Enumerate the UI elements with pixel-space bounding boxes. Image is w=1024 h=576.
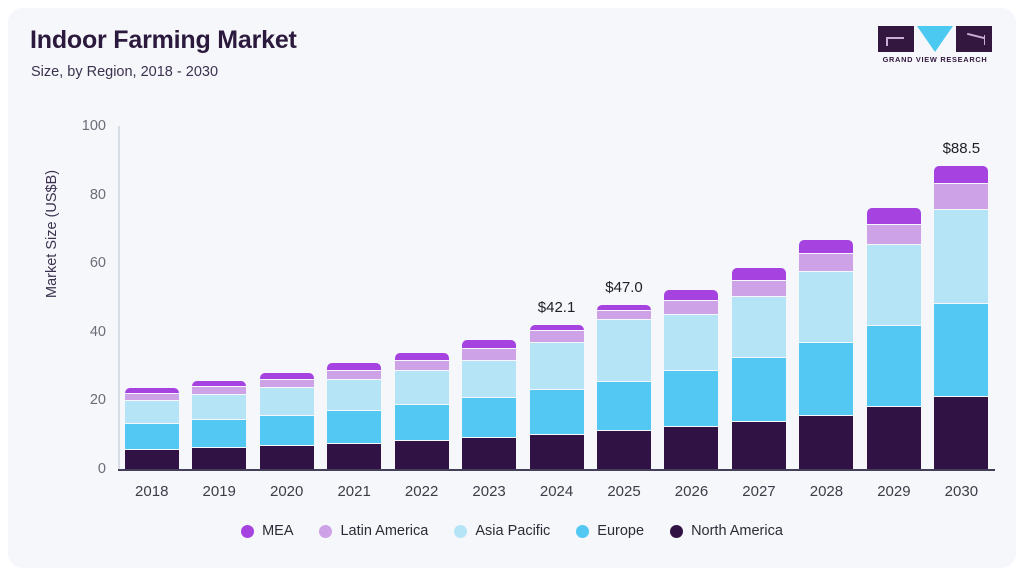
bar-segment-asia-pacific[interactable] (530, 343, 584, 390)
bar-value-label-2024: $42.1 (538, 299, 576, 316)
bar-stack[interactable] (462, 340, 516, 469)
bar-segment-europe[interactable] (462, 398, 516, 438)
bar-segment-latin-america[interactable] (934, 184, 988, 210)
bar-segment-north-america[interactable] (192, 448, 246, 469)
plot-area: 020406080100 201820192020202120222023$42… (118, 126, 995, 469)
legend-swatch-icon (454, 525, 467, 538)
bar-stack[interactable] (260, 373, 314, 469)
bar-segment-europe[interactable] (664, 371, 718, 427)
x-axis-tick-2030: 2030 (945, 483, 978, 500)
x-axis-tick-2029: 2029 (877, 483, 910, 500)
x-axis-tick-2020: 2020 (270, 483, 303, 500)
logo-left-line-h (886, 37, 904, 39)
bar-segment-asia-pacific[interactable] (327, 380, 381, 411)
bar-segment-europe[interactable] (530, 390, 584, 435)
page-subtitle: Size, by Region, 2018 - 2030 (31, 64, 218, 80)
bar-segment-asia-pacific[interactable] (732, 297, 786, 357)
bar-segment-north-america[interactable] (462, 438, 516, 469)
bar-segment-mea[interactable] (260, 373, 314, 380)
bar-segment-europe[interactable] (732, 358, 786, 423)
bar-stack[interactable] (867, 208, 921, 469)
bar-segment-latin-america[interactable] (192, 387, 246, 395)
bar-segment-latin-america[interactable] (125, 394, 179, 401)
bar-segment-europe[interactable] (799, 343, 853, 415)
bar-stack[interactable]: $47.0 (597, 305, 651, 469)
x-axis-tick-2022: 2022 (405, 483, 438, 500)
bar-segment-asia-pacific[interactable] (867, 245, 921, 326)
bar-segment-europe[interactable] (867, 326, 921, 408)
y-axis-tick-80: 80 (90, 187, 106, 203)
bar-value-label-2025: $47.0 (605, 279, 643, 296)
bar-segment-asia-pacific[interactable] (260, 388, 314, 416)
bar-segment-latin-america[interactable] (327, 371, 381, 380)
bar-segment-latin-america[interactable] (799, 254, 853, 272)
bar-segment-north-america[interactable] (799, 416, 853, 469)
bar-stack[interactable] (732, 268, 786, 469)
bar-segment-latin-america[interactable] (462, 349, 516, 360)
bar-segment-europe[interactable] (192, 420, 246, 447)
legend-item-mea[interactable]: MEA (241, 523, 293, 539)
bar-segment-mea[interactable] (395, 353, 449, 361)
bar-stack[interactable] (192, 381, 246, 469)
bar-segment-latin-america[interactable] (260, 380, 314, 389)
bar-segment-north-america[interactable] (867, 407, 921, 469)
y-axis-tick-40: 40 (90, 324, 106, 340)
logo-text: GRAND VIEW RESEARCH (878, 55, 992, 64)
x-axis-tick-2026: 2026 (675, 483, 708, 500)
bar-segment-mea[interactable] (664, 290, 718, 301)
legend-label: Asia Pacific (475, 523, 550, 539)
bar-group-2027[interactable]: 2027 (725, 126, 792, 469)
y-axis-tick-60: 60 (90, 255, 106, 271)
bar-segment-mea[interactable] (799, 240, 853, 254)
legend-swatch-icon (319, 525, 332, 538)
page-title: Indoor Farming Market (30, 26, 297, 55)
x-axis-tick-2019: 2019 (203, 483, 236, 500)
bar-segment-latin-america[interactable] (664, 301, 718, 315)
bar-segment-asia-pacific[interactable] (125, 401, 179, 424)
legend-item-asia-pacific[interactable]: Asia Pacific (454, 523, 550, 539)
bar-stack[interactable]: $42.1 (530, 325, 584, 469)
bar-stack[interactable] (395, 353, 449, 469)
chart-card: Indoor Farming Market Size, by Region, 2… (8, 8, 1016, 568)
bar-segment-mea[interactable] (934, 166, 988, 185)
x-axis-tick-2021: 2021 (337, 483, 370, 500)
y-axis-label: Market Size (US$B) (44, 170, 60, 298)
bar-stack[interactable]: $88.5 (934, 166, 988, 470)
legend-item-latin-america[interactable]: Latin America (319, 523, 428, 539)
legend-swatch-icon (241, 525, 254, 538)
bar-value-label-2030: $88.5 (943, 140, 981, 157)
bar-group-2019[interactable]: 2019 (185, 126, 252, 469)
bar-group-2024[interactable]: $42.12024 (523, 126, 590, 469)
bar-segment-north-america[interactable] (260, 446, 314, 469)
legend-swatch-icon (576, 525, 589, 538)
bar-segment-mea[interactable] (327, 363, 381, 371)
screenshot-root: Indoor Farming Market Size, by Region, 2… (0, 0, 1024, 576)
bar-segment-north-america[interactable] (395, 441, 449, 469)
bar-segment-asia-pacific[interactable] (395, 371, 449, 405)
y-axis-tick-0: 0 (98, 461, 106, 477)
bar-segment-north-america[interactable] (125, 450, 179, 469)
bar-segment-asia-pacific[interactable] (934, 210, 988, 303)
bar-segment-europe[interactable] (597, 382, 651, 432)
bar-segment-asia-pacific[interactable] (192, 395, 246, 420)
x-axis-line (118, 469, 995, 471)
logo-left-rect-icon (878, 26, 914, 52)
bar-group-2023[interactable]: 2023 (455, 126, 522, 469)
bar-group-2026[interactable]: 2026 (658, 126, 725, 469)
bar-segment-asia-pacific[interactable] (462, 361, 516, 399)
bar-stack[interactable] (125, 388, 179, 469)
bar-segment-north-america[interactable] (597, 431, 651, 469)
y-axis-tick-20: 20 (90, 392, 106, 408)
bar-segment-north-america[interactable] (664, 427, 718, 469)
logo-marks (878, 26, 992, 52)
bar-segment-latin-america[interactable] (530, 331, 584, 343)
bar-segment-asia-pacific[interactable] (664, 315, 718, 371)
bar-group-2021[interactable]: 2021 (320, 126, 387, 469)
logo-right-line-v (984, 35, 986, 45)
x-axis-tick-2023: 2023 (472, 483, 505, 500)
x-axis-tick-2027: 2027 (742, 483, 775, 500)
legend-item-europe[interactable]: Europe (576, 523, 644, 539)
bar-segment-asia-pacific[interactable] (597, 320, 651, 382)
x-axis-tick-2028: 2028 (810, 483, 843, 500)
bar-segment-latin-america[interactable] (597, 311, 651, 320)
bar-group-2030[interactable]: $88.52030 (928, 126, 995, 469)
bar-stack[interactable] (799, 240, 853, 469)
bar-segment-north-america[interactable] (530, 435, 584, 469)
logo-right-line-h (967, 33, 985, 39)
bar-segment-mea[interactable] (462, 340, 516, 349)
bar-segment-north-america[interactable] (732, 422, 786, 469)
bar-series-group: 201820192020202120222023$42.12024$47.020… (118, 126, 995, 469)
bar-group-2025[interactable]: $47.02025 (590, 126, 657, 469)
x-axis-tick-2018: 2018 (135, 483, 168, 500)
bar-segment-europe[interactable] (395, 405, 449, 441)
grand-view-research-logo: GRAND VIEW RESEARCH (878, 26, 992, 68)
bar-segment-north-america[interactable] (327, 444, 381, 469)
bar-segment-mea[interactable] (867, 208, 921, 225)
bar-segment-latin-america[interactable] (867, 225, 921, 245)
y-axis-tick-100: 100 (82, 118, 106, 134)
bar-segment-europe[interactable] (125, 424, 179, 449)
legend-label: North America (691, 523, 783, 539)
legend-label: Europe (597, 523, 644, 539)
bar-segment-mea[interactable] (732, 268, 786, 282)
bar-group-2018[interactable]: 2018 (118, 126, 185, 469)
logo-triangle-icon (917, 26, 953, 52)
bar-stack[interactable] (664, 290, 718, 469)
bar-segment-asia-pacific[interactable] (799, 272, 853, 344)
x-axis-tick-2025: 2025 (607, 483, 640, 500)
bar-segment-europe[interactable] (934, 304, 988, 397)
x-axis-tick-2024: 2024 (540, 483, 573, 500)
bar-segment-north-america[interactable] (934, 397, 988, 469)
legend-label: MEA (262, 523, 293, 539)
chart-legend: MEALatin AmericaAsia PacificEuropeNorth … (8, 523, 1016, 539)
bar-segment-europe[interactable] (260, 416, 314, 446)
logo-left-line-v (886, 37, 888, 46)
bar-group-2028[interactable]: 2028 (793, 126, 860, 469)
bar-segment-latin-america[interactable] (395, 361, 449, 371)
bar-group-2022[interactable]: 2022 (388, 126, 455, 469)
logo-right-rect-icon (956, 26, 992, 52)
legend-swatch-icon (670, 525, 683, 538)
legend-label: Latin America (340, 523, 428, 539)
bar-segment-mea[interactable] (530, 325, 584, 332)
bar-group-2020[interactable]: 2020 (253, 126, 320, 469)
legend-item-north-america[interactable]: North America (670, 523, 783, 539)
bar-group-2029[interactable]: 2029 (860, 126, 927, 469)
bar-stack[interactable] (327, 363, 381, 469)
bar-segment-latin-america[interactable] (732, 281, 786, 297)
bar-segment-europe[interactable] (327, 411, 381, 444)
